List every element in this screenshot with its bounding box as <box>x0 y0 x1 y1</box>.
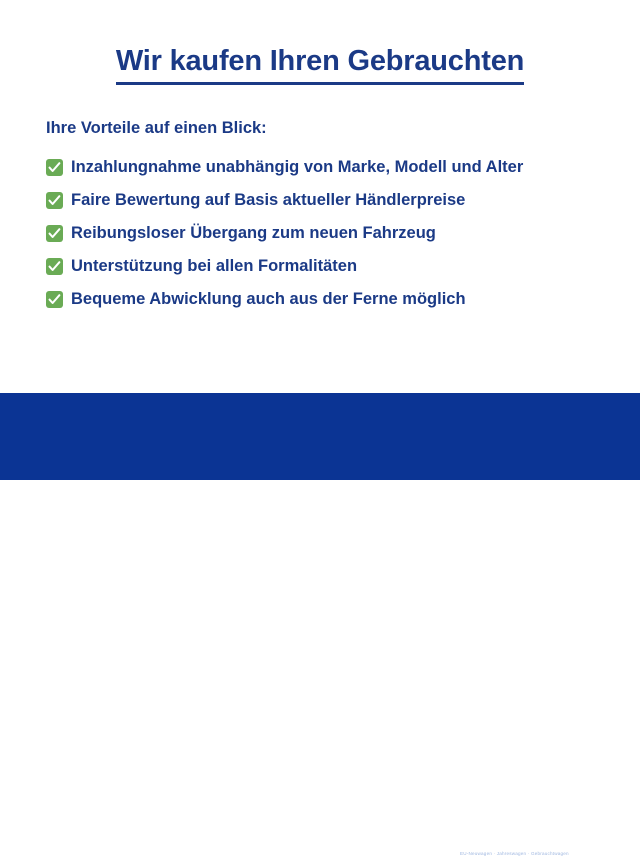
list-item-label: Unterstützung bei allen Formalitäten <box>71 258 357 275</box>
logo-word-text: MEYER <box>464 827 547 852</box>
dealer-logo: Autohaus MEYER EU-Neuwagen · Jahreswagen… <box>452 797 596 863</box>
list-item-label: Bequeme Abwicklung auch aus der Ferne mö… <box>71 291 466 308</box>
list-item: Reibungsloser Übergang zum neuen Fahrzeu… <box>46 217 616 250</box>
benefits-list: Inzahlungnahme unabhängig von Marke, Mod… <box>46 151 616 316</box>
page-title-text: Wir kaufen Ihren Gebrauchten <box>116 45 524 85</box>
list-item-label: Inzahlungnahme unabhängig von Marke, Mod… <box>71 159 523 176</box>
list-item-label: Reibungsloser Übergang zum neuen Fahrzeu… <box>71 225 436 242</box>
list-item: Bequeme Abwicklung auch aus der Ferne mö… <box>46 283 616 316</box>
list-item: Unterstützung bei allen Formalitäten <box>46 250 616 283</box>
page-title: Wir kaufen Ihren Gebrauchten <box>0 45 640 85</box>
list-item-label: Faire Bewertung auf Basis aktueller Händ… <box>71 192 465 209</box>
list-item: Inzahlungnahme unabhängig von Marke, Mod… <box>46 151 616 184</box>
slogan-text: Clever sparen. Besser fahren. <box>52 814 347 840</box>
check-icon <box>46 192 63 209</box>
list-item: Faire Bewertung auf Basis aktueller Händ… <box>46 184 616 217</box>
check-icon <box>46 291 63 308</box>
footer-banner: Clever sparen. Besser fahren. Autohaus M… <box>0 393 640 480</box>
logo-subtitle-text: EU-Neuwagen · Jahreswagen · Gebrauchtwag… <box>460 851 569 856</box>
check-icon <box>46 225 63 242</box>
advertisement-page: Wir kaufen Ihren Gebrauchten Ihre Vortei… <box>0 0 640 480</box>
check-icon <box>46 258 63 275</box>
logo-script-text: Autohaus <box>472 797 566 826</box>
check-icon <box>46 159 63 176</box>
benefits-intro-text: Ihre Vorteile auf einen Blick: <box>46 119 267 138</box>
